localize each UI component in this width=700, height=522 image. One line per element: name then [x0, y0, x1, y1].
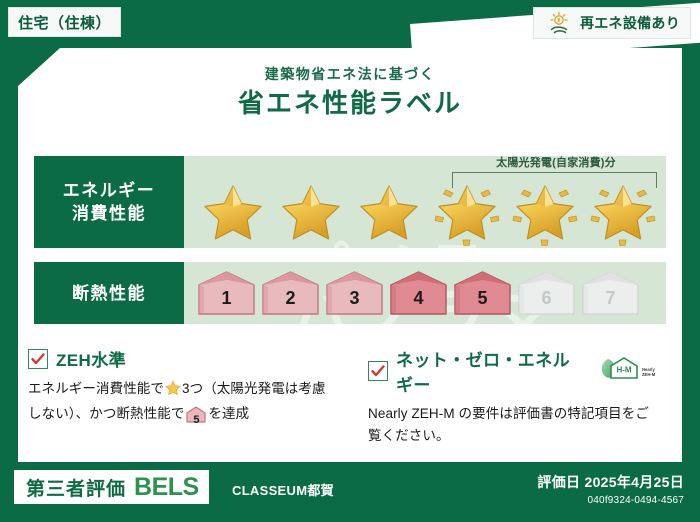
solar-caption: 太陽光発電(自家消費)分 — [446, 156, 666, 170]
note-zeh-standard: ZEH水準 エネルギー消費性能で3つ（太陽光発電は考慮しない）、かつ断熱性能で5… — [28, 346, 350, 447]
evaluation-id: 040f9324-0494-4567 — [537, 495, 684, 506]
zeh-m-logo-sub2: ZEH-M — [642, 372, 656, 377]
zeh-m-logo-text: H-M — [616, 365, 631, 374]
note-net-zero-energy: ネット・ゼロ・エネルギー H-M Nearly ZEH- — [350, 346, 672, 447]
star-icon-solar — [428, 178, 506, 246]
evaluation-date: 評価日 2025年4月25日 — [537, 472, 684, 492]
note-title: ZEH水準 — [56, 346, 126, 371]
insulation-grade-3: 3 — [324, 270, 385, 316]
energy-performance-row: エネルギー 消費性能 パノラマ 太陽光発電(自家消費)分 — [34, 156, 666, 248]
inline-grade-house: 5 — [186, 406, 206, 430]
insulation-grade-6: 6 — [516, 270, 577, 316]
inline-grade-number: 5 — [186, 409, 206, 431]
insulation-performance-label: 断熱性能 — [34, 262, 184, 324]
star-icon-solar — [584, 178, 662, 246]
insulation-grade-7: 7 — [580, 270, 641, 316]
footer: 第三者評価 BELS CLASSEUM都賀 評価日 2025年4月25日 040… — [0, 462, 700, 522]
inline-star-icon — [165, 380, 181, 403]
star-icon — [272, 178, 350, 246]
insulation-label-text: 断熱性能 — [72, 282, 146, 305]
solar-bracket — [452, 172, 657, 188]
insulation-grade-number: 1 — [196, 288, 257, 309]
title-subtitle: 建築物省エネ法に基づく — [0, 64, 700, 84]
insulation-grade-number: 5 — [452, 288, 513, 309]
note-body: Nearly ZEH-M の要件は評価書の特記項目をご覧ください。 — [368, 403, 658, 447]
note-header: ネット・ゼロ・エネルギー H-M Nearly ZEH- — [368, 346, 658, 396]
energy-performance-body: パノラマ 太陽光発電(自家消費)分 — [184, 156, 666, 248]
insulation-performance-body: パノラマ 1 2 3 4 5 — [184, 262, 666, 324]
building-type-label: 住宅（住棟） — [18, 12, 111, 33]
bels-japanese-label: 第三者評価 — [26, 474, 126, 501]
title-main: 省エネ性能ラベル — [0, 86, 700, 120]
insulation-grade-scale: 1 2 3 4 5 6 7 — [196, 270, 641, 316]
note-body: エネルギー消費性能で3つ（太陽光発電は考慮しない）、かつ断熱性能で5を達成 — [28, 378, 336, 430]
insulation-grade-4: 4 — [388, 270, 449, 316]
renewable-equipment-label: 再エネ設備あり — [580, 13, 680, 33]
note-title: ネット・ゼロ・エネルギー — [396, 346, 584, 396]
insulation-grade-number: 2 — [260, 288, 321, 309]
bels-logo-text: BELS — [134, 473, 199, 502]
insulation-grade-number: 4 — [388, 288, 449, 309]
insulation-grade-number: 6 — [516, 288, 577, 309]
page-title: 建築物省エネ法に基づく 省エネ性能ラベル — [0, 64, 700, 120]
energy-label-card: 住宅（住棟） 再エネ設備あり 建築物省エネ法に基づく 省エネ性能ラベル エネルギ… — [0, 0, 700, 522]
energy-label-line1: エネルギー — [63, 179, 156, 202]
check-icon — [368, 361, 388, 381]
star-icon-solar — [506, 178, 584, 246]
evaluation-info: 評価日 2025年4月25日 040f9324-0494-4567 — [537, 472, 684, 506]
insulation-grade-2: 2 — [260, 270, 321, 316]
zeh-m-logo-icon: H-M Nearly ZEH-M — [598, 356, 658, 387]
check-icon — [28, 349, 48, 369]
star-icon — [194, 178, 272, 246]
insulation-performance-row: 断熱性能 パノラマ 1 2 3 4 5 — [34, 262, 666, 324]
energy-label-line2: 消費性能 — [72, 202, 146, 225]
renewable-equipment-chip: 再エネ設備あり — [533, 7, 691, 39]
insulation-grade-number: 3 — [324, 288, 385, 309]
insulation-grade-1: 1 — [196, 270, 257, 316]
notes-section: ZEH水準 エネルギー消費性能で3つ（太陽光発電は考慮しない）、かつ断熱性能で5… — [28, 346, 672, 447]
insulation-grade-number: 7 — [580, 288, 641, 309]
insulation-grade-5: 5 — [452, 270, 513, 316]
note-body-part3: を達成 — [208, 406, 249, 421]
building-type-chip: 住宅（住棟） — [8, 7, 121, 37]
note-header: ZEH水準 — [28, 346, 336, 371]
company-name: CLASSEUM都賀 — [232, 480, 334, 499]
energy-performance-label: エネルギー 消費性能 — [34, 156, 184, 248]
bels-plate: 第三者評価 BELS — [14, 470, 209, 504]
note-body-part1: エネルギー消費性能で — [28, 381, 164, 396]
sun-icon — [548, 11, 574, 35]
star-icon — [350, 178, 428, 246]
star-rating — [194, 178, 664, 246]
